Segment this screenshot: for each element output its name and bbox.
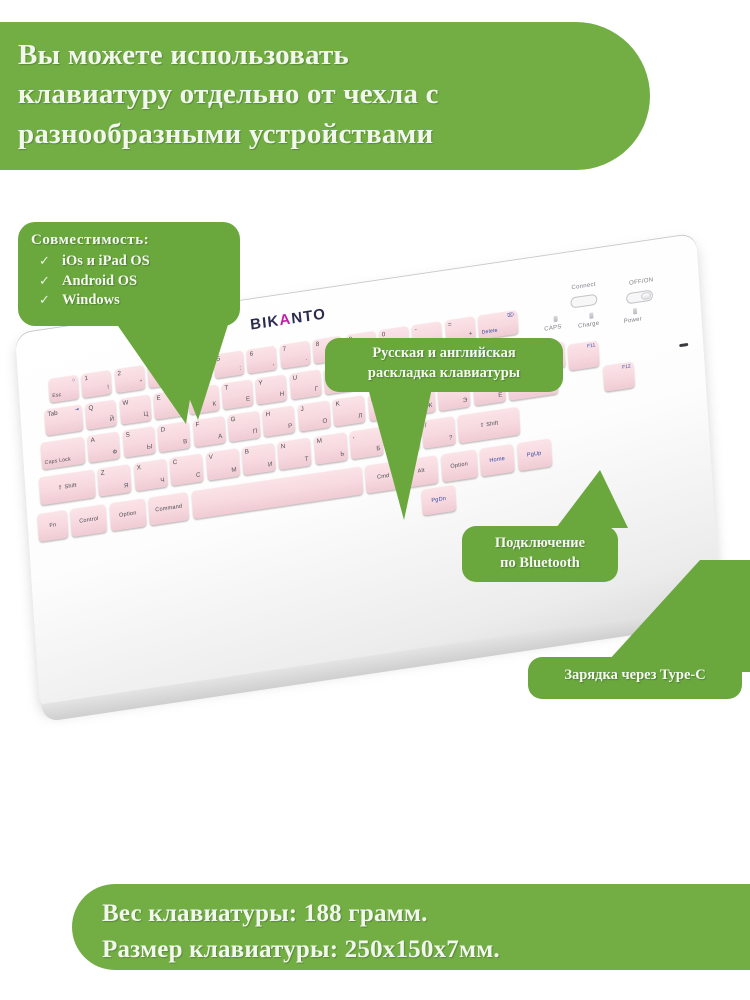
callout-bluetooth: Подключение по Bluetooth: [462, 526, 618, 582]
bluetooth-line-2: по Bluetooth: [462, 553, 618, 573]
callout-keyboard-layout: Русская и английская раскладка клавиатур…: [325, 338, 563, 392]
check-icon: ✓: [39, 291, 49, 309]
compatibility-title: Совместимость:: [31, 231, 230, 251]
layout-line-2: раскладка клавиатуры: [325, 364, 563, 384]
compatibility-item-android: Android OS: [62, 272, 137, 292]
check-icon: ✓: [39, 252, 49, 270]
callout-type-c-charging: Зарядка через Type-C: [528, 657, 742, 699]
compatibility-list: ✓ iOs и iPad OS ✓ Android OS ✓ Windows: [31, 252, 230, 311]
check-icon: ✓: [39, 272, 49, 290]
typec-pointer: [0, 0, 750, 1000]
infographic-canvas: Вы можете использовать клавиатуру отдель…: [0, 0, 750, 1000]
list-item: ✓ iOs и iPad OS: [31, 252, 230, 272]
layout-line-1: Русская и английская: [325, 344, 563, 364]
compatibility-item-ios: iOs и iPad OS: [62, 252, 150, 272]
bluetooth-line-1: Подключение: [462, 533, 618, 553]
typec-line-1: Зарядка через Type-C: [528, 667, 742, 684]
list-item: ✓ Android OS: [31, 272, 230, 292]
compatibility-item-windows: Windows: [62, 291, 120, 311]
list-item: ✓ Windows: [31, 291, 230, 311]
callout-compatibility: Совместимость: ✓ iOs и iPad OS ✓ Android…: [18, 222, 240, 326]
